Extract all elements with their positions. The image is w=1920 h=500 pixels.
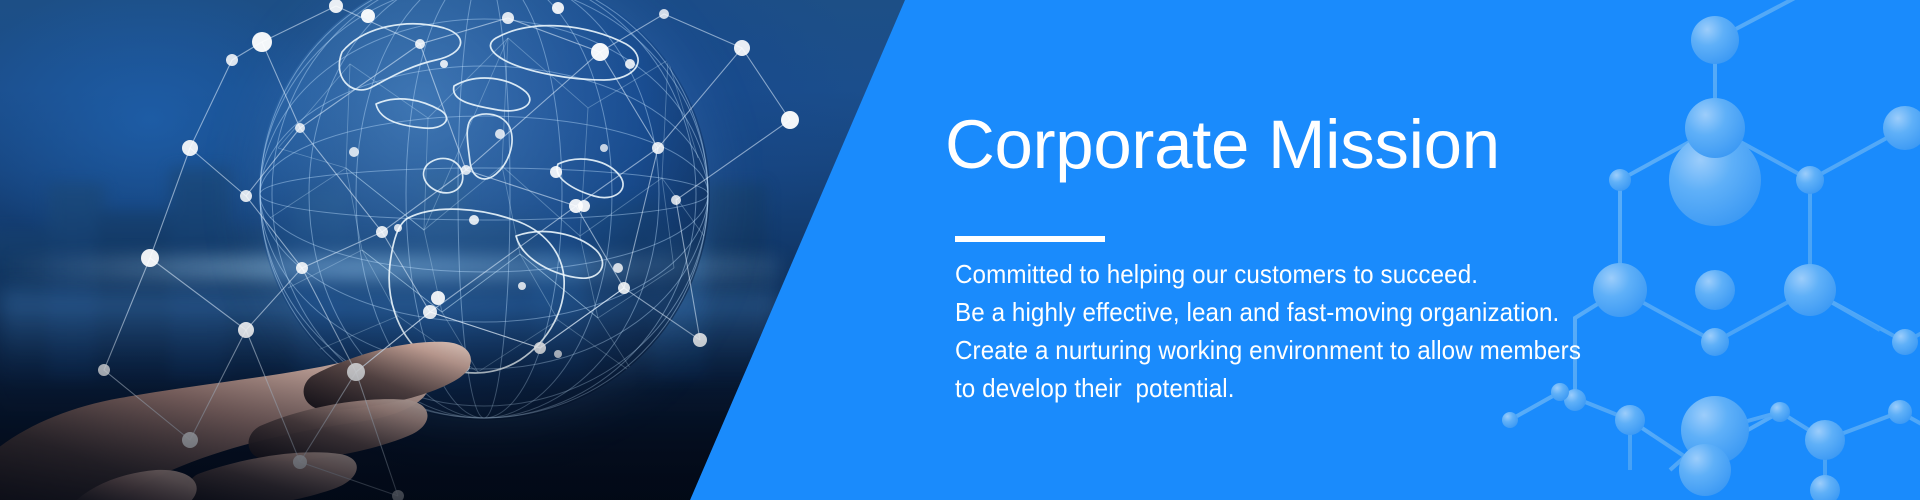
mission-line: Committed to helping our customers to su… [955,255,1643,293]
mission-line: to develop their potential. [955,369,1643,407]
page-title: Corporate Mission [945,110,1500,179]
title-underline-rule [955,236,1105,242]
mission-line: Be a highly effective, lean and fast-mov… [955,293,1643,331]
mission-statement-list: Committed to helping our customers to su… [955,255,1695,407]
mission-text-block: Corporate Mission Committed to helping o… [945,0,1705,500]
corporate-mission-banner: Corporate Mission Committed to helping o… [0,0,1920,500]
mission-line: Create a nurturing working environment t… [955,331,1643,369]
